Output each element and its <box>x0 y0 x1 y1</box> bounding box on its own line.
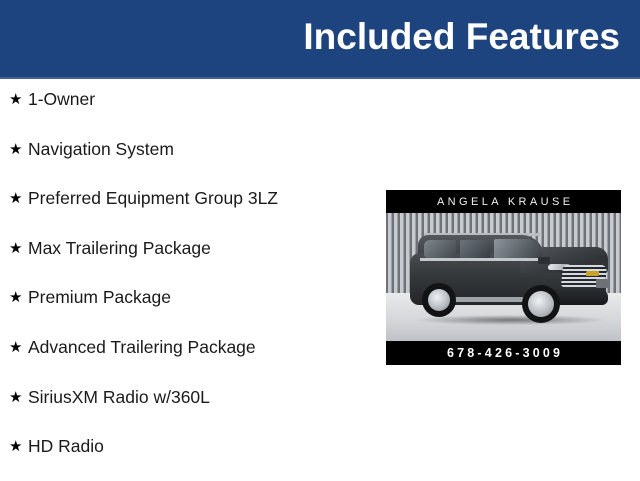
star-icon: ★ <box>9 282 28 312</box>
star-icon: ★ <box>9 332 28 362</box>
list-item: ★ Navigation System <box>0 134 370 184</box>
star-icon: ★ <box>9 431 28 461</box>
feature-label: 1-Owner <box>28 84 95 114</box>
list-item: ★ SiriusXM Radio w/360L <box>0 382 370 432</box>
star-icon: ★ <box>9 134 28 164</box>
list-item: ★ Preferred Equipment Group 3LZ <box>0 183 370 233</box>
included-features-list: ★ 1-Owner ★ Navigation System ★ Preferre… <box>0 84 370 481</box>
page-title: Included Features <box>303 14 620 60</box>
list-item: ★ Premium Package <box>0 282 370 332</box>
feature-label: HD Radio <box>28 431 104 461</box>
header-underline <box>0 77 640 79</box>
vehicle-shadow <box>416 315 606 325</box>
rear-window <box>424 240 456 258</box>
dealer-name-bar: ANGELA KRAUSE <box>386 190 621 213</box>
star-icon: ★ <box>9 84 28 114</box>
chevrolet-bowtie-icon <box>586 271 600 276</box>
list-item: ★ 1-Owner <box>0 84 370 134</box>
front-window <box>494 239 542 259</box>
list-item: ★ Max Trailering Package <box>0 233 370 283</box>
rear-door-window <box>460 240 490 258</box>
feature-label: Advanced Trailering Package <box>28 332 256 362</box>
feature-label: Premium Package <box>28 282 171 312</box>
feature-label: Preferred Equipment Group 3LZ <box>28 183 278 213</box>
star-icon: ★ <box>9 382 28 412</box>
license-plate <box>596 279 608 288</box>
suv-illustration <box>400 227 612 331</box>
feature-label: Navigation System <box>28 134 174 164</box>
side-mirror <box>538 257 550 264</box>
list-item: ★ HD Radio <box>0 431 370 481</box>
rear-rim <box>428 289 450 311</box>
list-item: ★ Advanced Trailering Package <box>0 332 370 382</box>
feature-label: SiriusXM Radio w/360L <box>28 382 210 412</box>
chrome-beltline <box>420 258 546 261</box>
star-icon: ★ <box>9 183 28 213</box>
feature-label: Max Trailering Package <box>28 233 211 263</box>
dealer-phone-bar: 678-426-3009 <box>386 341 621 365</box>
dealer-name: ANGELA KRAUSE <box>434 196 574 208</box>
vehicle-image <box>386 213 621 341</box>
dealer-phone: 678-426-3009 <box>444 346 563 360</box>
front-rim <box>528 291 554 317</box>
star-icon: ★ <box>9 233 28 263</box>
vehicle-photo[interactable]: ANGELA KRAUSE 678-426 <box>386 190 621 365</box>
